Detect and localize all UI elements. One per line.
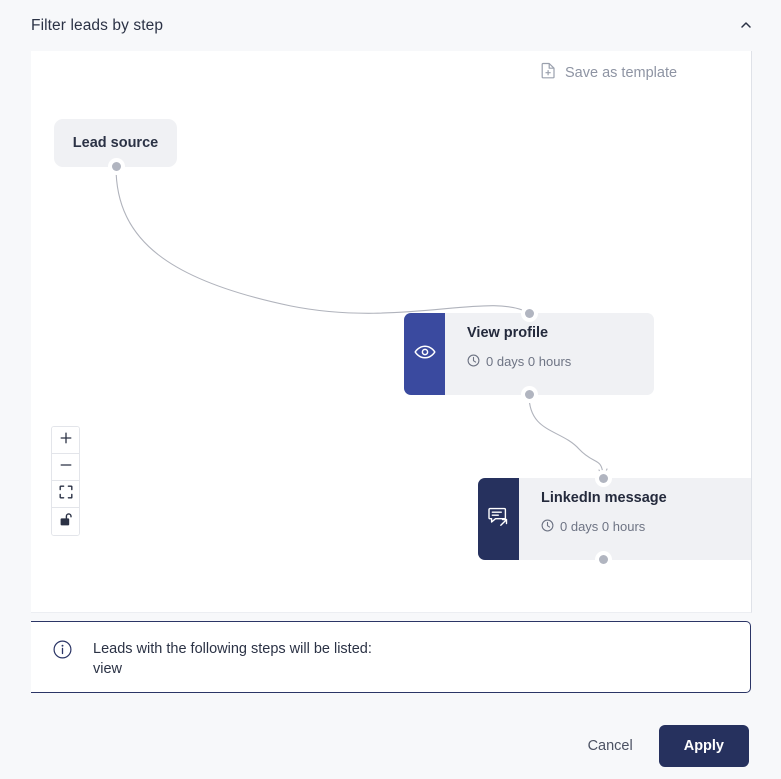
node-lead-source-title: Lead source xyxy=(73,135,158,151)
unlock-icon xyxy=(59,512,73,532)
clock-icon xyxy=(467,354,480,370)
cancel-button[interactable]: Cancel xyxy=(584,730,637,762)
node-view-profile-title: View profile xyxy=(467,326,654,341)
fit-view-button[interactable] xyxy=(52,481,79,508)
flow-canvas[interactable]: Save as template Lead source View profil… xyxy=(31,51,752,613)
node-lead-source[interactable]: Lead source xyxy=(54,119,177,167)
dialog-footer: Cancel Apply xyxy=(0,712,781,779)
panel-header: Filter leads by step xyxy=(0,0,781,52)
info-circle-icon xyxy=(53,640,72,664)
chevron-up-icon xyxy=(739,18,753,35)
plus-icon xyxy=(59,431,73,450)
handle-linkedin-message-top[interactable] xyxy=(599,474,608,483)
apply-button[interactable]: Apply xyxy=(659,725,749,767)
info-banner-text: Leads with the following steps will be l… xyxy=(93,639,372,679)
minus-icon xyxy=(59,458,73,477)
info-banner-line1: Leads with the following steps will be l… xyxy=(93,641,372,657)
zoom-out-button[interactable] xyxy=(52,454,79,481)
info-banner-line2: view xyxy=(93,659,372,679)
save-as-template-button[interactable]: Save as template xyxy=(541,62,677,83)
handle-linkedin-message-bottom[interactable] xyxy=(599,555,608,564)
node-linkedin-message-delay-label: 0 days 0 hours xyxy=(560,519,645,534)
node-view-profile-delay: 0 days 0 hours xyxy=(467,354,654,370)
node-view-profile-body: View profile 0 days 0 hours xyxy=(445,313,654,395)
eye-icon xyxy=(414,344,436,365)
handle-lead-source-bottom[interactable] xyxy=(112,162,121,171)
node-view-profile[interactable]: View profile 0 days 0 hours xyxy=(404,313,654,395)
node-linkedin-message-delay: 0 days 0 hours xyxy=(541,519,752,535)
clock-icon xyxy=(541,519,554,535)
lock-toggle-button[interactable] xyxy=(52,508,79,535)
save-as-template-label: Save as template xyxy=(565,65,677,81)
node-view-profile-delay-label: 0 days 0 hours xyxy=(486,354,571,369)
collapse-panel-button[interactable] xyxy=(733,13,759,39)
node-linkedin-message-body: LinkedIn message 0 days 0 hours xyxy=(519,478,752,560)
handle-view-profile-top[interactable] xyxy=(525,309,534,318)
fit-view-icon xyxy=(59,485,73,504)
zoom-in-button[interactable] xyxy=(52,427,79,454)
node-linkedin-message[interactable]: LinkedIn message 0 days 0 hours xyxy=(478,478,752,560)
canvas-controls xyxy=(51,426,80,536)
node-linkedin-message-icon-panel xyxy=(478,478,519,560)
message-send-icon xyxy=(488,506,510,532)
node-view-profile-icon-panel xyxy=(404,313,445,395)
handle-view-profile-bottom[interactable] xyxy=(525,390,534,399)
page-title: Filter leads by step xyxy=(31,17,733,35)
file-plus-icon xyxy=(541,62,556,83)
node-linkedin-message-title: LinkedIn message xyxy=(541,491,752,506)
info-banner: Leads with the following steps will be l… xyxy=(31,621,751,693)
